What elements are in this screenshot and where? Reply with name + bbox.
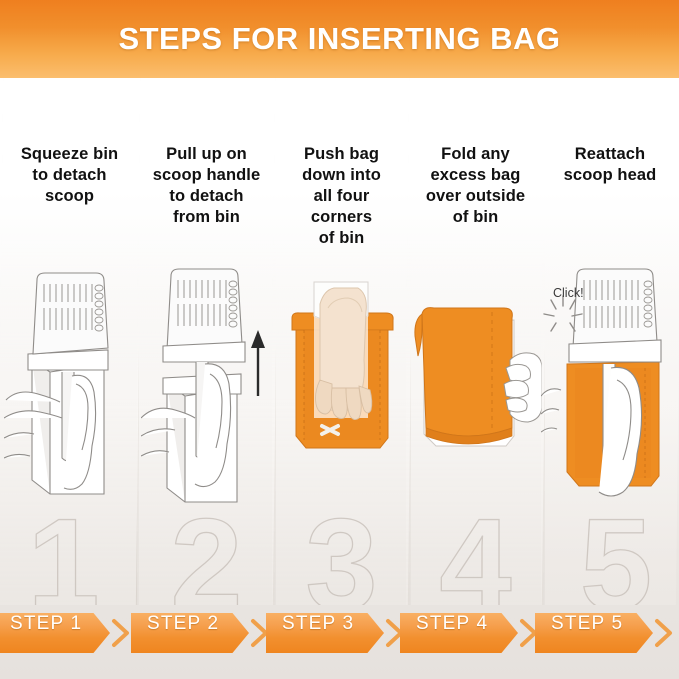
step-caption-4: Fold any excess bag over outside of bin (406, 144, 545, 228)
step-illustration-2 (137, 268, 276, 518)
infographic-root: STEPS FOR INSERTING BAG Squeeze bin to d… (0, 0, 679, 679)
step-banner-5[interactable]: STEP 5 (541, 605, 679, 679)
chevron-right-icon (653, 618, 675, 648)
step-illustration-3 (272, 268, 411, 518)
step-illustration-1 (0, 268, 139, 518)
step-banner-label-4: STEP 4 (416, 613, 488, 635)
step-banner-label-3: STEP 3 (282, 613, 354, 635)
chevron-right-icon (110, 618, 132, 648)
step-caption-1: Squeeze bin to detach scoop (0, 144, 139, 207)
step-banner-label-5: STEP 5 (551, 613, 623, 635)
steps-panel-row: Squeeze bin to detach scoop (0, 78, 679, 605)
step-panel-2: Pull up on scoop handle to detach from b… (137, 78, 276, 605)
step-banner-label-2: STEP 2 (147, 613, 219, 635)
step-banner-4[interactable]: STEP 4 (406, 605, 545, 679)
step-caption-2: Pull up on scoop handle to detach from b… (137, 144, 276, 228)
page-title: STEPS FOR INSERTING BAG (118, 21, 560, 57)
step-panel-1: Squeeze bin to detach scoop (0, 78, 139, 605)
step-caption-3: Push bag down into all four corners of b… (272, 144, 411, 249)
step-banner-2[interactable]: STEP 2 (137, 605, 276, 679)
step-banner-label-1: STEP 1 (10, 613, 82, 635)
click-annotation: Click! (553, 286, 584, 300)
step-illustration-5: Click! (541, 268, 679, 518)
step-banner-row: STEP 1 STEP 2 STEP 3 STEP 4 (0, 605, 679, 679)
header-banner: STEPS FOR INSERTING BAG (0, 0, 679, 78)
step-panel-4: Fold any excess bag over outside of bin (406, 78, 545, 605)
step-panel-5: Reattach scoop head (541, 78, 679, 605)
step-banner-1[interactable]: STEP 1 (0, 605, 139, 679)
step-panel-3: Push bag down into all four corners of b… (272, 78, 411, 605)
step-illustration-4 (406, 268, 545, 518)
step-caption-5: Reattach scoop head (541, 144, 679, 186)
step-banner-3[interactable]: STEP 3 (272, 605, 411, 679)
